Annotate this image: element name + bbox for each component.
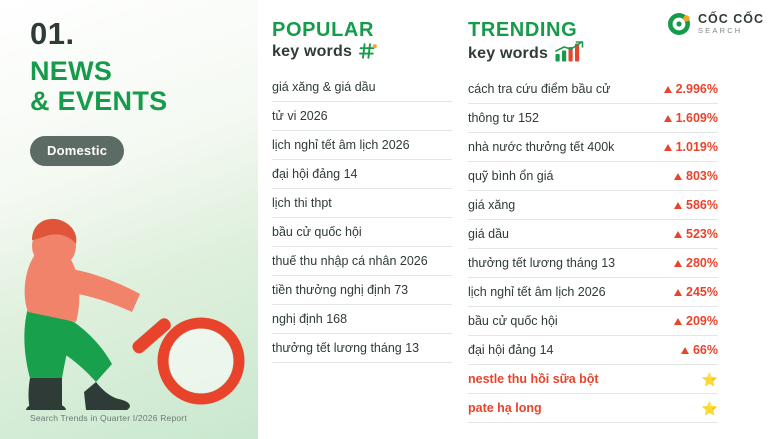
list-item[interactable]: lịch thi thpt [272,189,452,218]
star-icon: ⭐ [702,402,718,415]
growth-value: 1.609% [664,111,718,125]
popular-heading: POPULAR [272,20,452,41]
table-row[interactable]: nhà nước thưởng tết 400k 1.019% [468,133,718,162]
keyword-label: đại hội đảng 14 [272,167,358,181]
list-item[interactable]: bầu cử quốc hội [272,218,452,247]
triangle-up-icon [681,347,689,354]
popular-keywords-list: giá xăng & giá dầu tử vi 2026 lịch nghỉ … [272,73,452,363]
keyword-label: nhà nước thưởng tết 400k [468,140,614,154]
triangle-up-icon [664,115,672,122]
bar-chart-up-icon [554,41,584,63]
growth-percent: 280% [686,256,718,270]
section-number: 01. [30,16,75,52]
table-row[interactable]: thưởng tết lương tháng 13 280% [468,249,718,278]
table-row[interactable]: đại hội đảng 14 66% [468,336,718,365]
keyword-label: tiền thưởng nghị định 73 [272,283,408,297]
person-with-magnifying-glass-illustration [0,160,258,410]
trending-subheading: key words [468,45,548,63]
table-row[interactable]: bầu cử quốc hội 209% [468,307,718,336]
keyword-label: cách tra cứu điểm bầu cử [468,82,611,96]
growth-percent: 66% [693,343,718,357]
triangle-up-icon [674,289,682,296]
growth-percent: 2.996% [676,82,718,96]
keyword-label: thưởng tết lương tháng 13 [468,256,615,270]
triangle-up-icon [674,260,682,267]
keyword-label: tử vi 2026 [272,109,328,123]
keyword-label: lịch nghỉ tết âm lịch 2026 [272,138,410,152]
list-item[interactable]: giá xăng & giá dầu [272,73,452,102]
keyword-label: giá dầu [468,227,509,241]
table-row[interactable]: nestle thu hồi sữa bột ⭐ [468,365,718,394]
list-item[interactable]: thuế thu nhập cá nhân 2026 [272,247,452,276]
growth-value: 280% [674,256,718,270]
trending-keywords-column: TRENDING key words cách tra cứu điểm bầu… [468,0,718,423]
popular-keywords-column: POPULAR key words giá xăng & giá dầu tử … [272,0,452,363]
growth-percent: 1.609% [676,111,718,125]
keyword-label: thưởng tết lương tháng 13 [272,341,419,355]
triangle-up-icon [664,86,672,93]
triangle-up-icon [674,173,682,180]
triangle-up-icon [674,231,682,238]
keyword-label: giá xăng & giá dầu [272,80,376,94]
popular-column-header: POPULAR key words [272,0,452,61]
triangle-up-icon [674,318,682,325]
growth-value: 586% [674,198,718,212]
growth-percent: 803% [686,169,718,183]
table-row[interactable]: thông tư 152 1.609% [468,104,718,133]
keyword-label: bầu cử quốc hội [468,314,558,328]
growth-value: 1.019% [664,140,718,154]
keyword-label: giá xăng [468,198,515,212]
keyword-label: lịch thi thpt [272,196,332,210]
table-row[interactable]: cách tra cứu điểm bầu cử 2.996% [468,75,718,104]
star-icon: ⭐ [702,373,718,386]
keyword-label: thuế thu nhập cá nhân 2026 [272,254,428,268]
trending-column-header: TRENDING key words [468,0,718,63]
growth-percent: 586% [686,198,718,212]
growth-value: 209% [674,314,718,328]
footnote: Search Trends in Quarter I/2026 Report [30,413,187,423]
table-row[interactable]: pate hạ long ⭐ [468,394,718,423]
keyword-label: nestle thu hồi sữa bột [468,372,599,386]
growth-value: 803% [674,169,718,183]
keyword-label: quỹ bình ổn giá [468,169,554,183]
list-item[interactable]: thưởng tết lương tháng 13 [272,334,452,363]
keyword-label: bầu cử quốc hội [272,225,362,239]
popular-subheading: key words [272,43,352,61]
list-item[interactable]: đại hội đảng 14 [272,160,452,189]
keyword-label: pate hạ long [468,401,542,415]
page-title-line2: & EVENTS [30,86,167,116]
list-item[interactable]: lịch nghỉ tết âm lịch 2026 [272,131,452,160]
growth-percent: 245% [686,285,718,299]
growth-value: ⭐ [702,402,718,415]
trending-keywords-list: cách tra cứu điểm bầu cử 2.996% thông tư… [468,75,718,423]
growth-value: 245% [674,285,718,299]
growth-percent: 209% [686,314,718,328]
table-row[interactable]: quỹ bình ổn giá 803% [468,162,718,191]
keyword-label: đại hội đảng 14 [468,343,554,357]
growth-value: ⭐ [702,373,718,386]
list-item[interactable]: tiền thưởng nghị định 73 [272,276,452,305]
table-row[interactable]: lịch nghỉ tết âm lịch 2026 245% [468,278,718,307]
growth-value: 66% [681,343,718,357]
list-item[interactable]: tử vi 2026 [272,102,452,131]
growth-value: 523% [674,227,718,241]
growth-value: 2.996% [664,82,718,96]
list-item[interactable]: nghị định 168 [272,305,452,334]
table-row[interactable]: giá xăng 586% [468,191,718,220]
table-row[interactable]: giá dầu 523% [468,220,718,249]
triangle-up-icon [674,202,682,209]
keyword-label: thông tư 152 [468,111,539,125]
growth-percent: 1.019% [676,140,718,154]
keyword-label: lịch nghỉ tết âm lịch 2026 [468,285,606,299]
hash-icon [358,41,378,61]
triangle-up-icon [664,144,672,151]
keyword-label: nghị định 168 [272,312,347,326]
left-hero-panel: 01. NEWS & EVENTS Domestic [0,0,258,439]
page-title-line1: NEWS [30,56,112,86]
trending-heading: TRENDING [468,20,718,41]
growth-percent: 523% [686,227,718,241]
